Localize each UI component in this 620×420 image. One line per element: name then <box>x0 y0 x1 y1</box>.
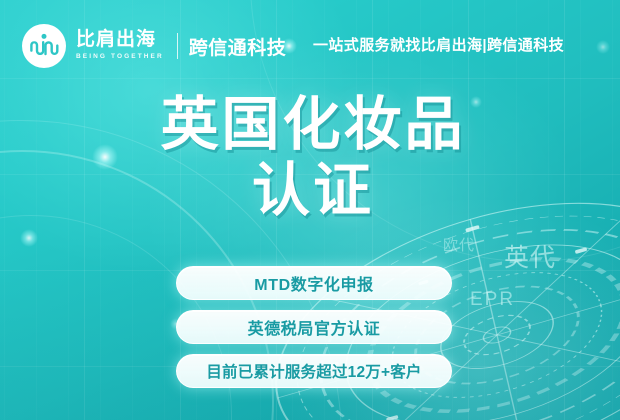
promo-banner: 欧代 英代 EPR 比肩出海 BEING TOGETHER 跨信通科技 <box>0 0 620 420</box>
feature-pill-1-label: MTD数字化申报 <box>254 271 373 295</box>
feature-pill-2[interactable]: 英德税局官方认证 <box>176 310 452 344</box>
brand-name-en: BEING TOGETHER <box>76 52 164 62</box>
banner-header: 比肩出海 BEING TOGETHER 跨信通科技 一站式服务就找比肩出海|跨信… <box>0 0 620 92</box>
main-title: 英国化妆品 认证 <box>0 92 620 224</box>
feature-pill-1[interactable]: MTD数字化申报 <box>176 266 452 300</box>
brand-divider <box>177 33 178 59</box>
watermark-ou-dai: 欧代 <box>443 234 475 255</box>
title-line-1: 英国化妆品 <box>0 92 620 158</box>
glow-dot <box>20 229 38 247</box>
brand-lockup: 比肩出海 BEING TOGETHER 跨信通科技 <box>22 24 286 68</box>
title-line-2: 认证 <box>0 158 620 224</box>
feature-pill-3[interactable]: 目前已累计服务超过12万+客户 <box>176 354 452 388</box>
feature-pill-list: MTD数字化申报 英德税局官方认证 目前已累计服务超过12万+客户 <box>176 266 452 398</box>
watermark-ying-dai: 英代 <box>504 238 556 274</box>
brand-name-cn: 比肩出海 <box>76 30 164 50</box>
brand-logo-icon <box>22 24 66 68</box>
watermark-epr: EPR <box>470 289 515 311</box>
brand-names: 比肩出海 BEING TOGETHER <box>76 30 164 62</box>
brand-sub-name: 跨信通科技 <box>189 33 287 60</box>
feature-pill-2-label: 英德税局官方认证 <box>248 315 381 339</box>
feature-pill-3-label: 目前已累计服务超过12万+客户 <box>206 360 421 382</box>
header-tagline: 一站式服务就找比肩出海|跨信通科技 <box>313 34 564 55</box>
